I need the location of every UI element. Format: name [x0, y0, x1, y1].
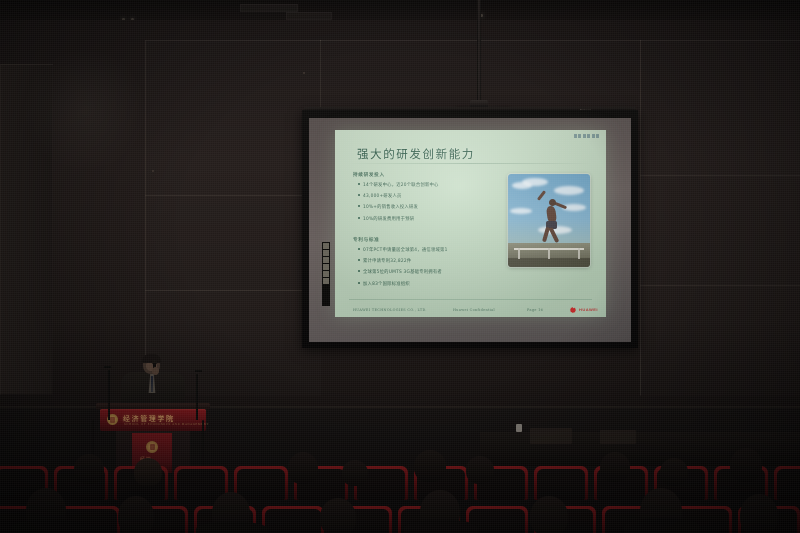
slide-bullet: 全球第5位的UMTS 3G基础专利拥有者	[358, 269, 448, 275]
wall-panel	[640, 40, 800, 176]
athlete-figure	[538, 190, 564, 252]
audience-head	[740, 494, 778, 533]
bullet-dot-icon	[358, 248, 360, 250]
audience-head	[600, 452, 630, 482]
athlete-arm	[537, 190, 546, 201]
wall-light-falloff	[20, 50, 150, 170]
microphone-stand	[196, 374, 198, 420]
cable	[202, 420, 204, 472]
wall-indicator-strip	[322, 242, 330, 306]
presenter-hand	[152, 367, 159, 375]
seat	[234, 466, 288, 500]
wall-panel	[145, 40, 321, 196]
slide-bullet: 43,000+研发人员	[358, 193, 439, 199]
table-object	[600, 430, 636, 444]
audience-head	[320, 498, 356, 533]
slide-title: 强大的研发创新能力	[357, 146, 475, 162]
ceiling-vent	[240, 4, 298, 12]
bullet-text: 10%+的销售收入投入研发	[363, 204, 418, 210]
slide-bullet: 14个研发中心，近20个联合创新中心	[358, 182, 439, 188]
huawei-flower-icon	[568, 305, 577, 314]
audience-shoulders	[196, 522, 268, 533]
microphone-boom	[195, 370, 202, 372]
bullet-dot-icon	[358, 270, 360, 272]
hurdle-leg	[518, 248, 520, 259]
wall-panel	[640, 175, 800, 286]
seat	[262, 506, 324, 533]
slide-footer-confidential: Huawei Confidential	[453, 308, 495, 312]
audience-head	[730, 448, 762, 482]
track-surface	[508, 258, 590, 267]
slide-bullet: 加入83个国际标准组织	[358, 281, 448, 287]
auditorium-presentation-scene: Screen 强大的研发创新能力 持续研发投入 14个研发中心，近20个联合创新…	[0, 0, 800, 533]
slide-bullet: 10%的研发费用用于预研	[358, 216, 439, 222]
audience-shoulders	[404, 520, 478, 533]
slide-header-mark-icon	[574, 134, 600, 138]
institution-emblem-icon	[146, 441, 158, 453]
bullet-text: 43,000+研发人员	[363, 193, 402, 199]
audience-shoulders	[10, 520, 84, 533]
audience-head	[134, 458, 162, 486]
microphone-boom	[104, 366, 111, 368]
audience-head	[466, 456, 494, 484]
wall-seam	[640, 40, 641, 395]
hurdle-leg	[578, 248, 580, 259]
athlete-leg	[549, 227, 560, 243]
wall-mark	[303, 72, 305, 74]
audience-head	[414, 450, 446, 482]
slide-footer-rule	[349, 299, 592, 300]
slide-page-number: Page 16	[527, 308, 543, 312]
audience-shoulders	[624, 518, 700, 533]
microphone-stand	[108, 370, 110, 420]
bullet-text: 07年PCT申请量居全球第4，通信领域第1	[363, 247, 448, 253]
bullet-dot-icon	[358, 217, 360, 219]
bullet-text: 14个研发中心，近20个联合创新中心	[363, 182, 439, 188]
table-object	[530, 428, 572, 444]
slide-title-rule	[349, 163, 592, 164]
audience-head	[342, 460, 368, 486]
cloud	[522, 178, 548, 186]
audience-head	[288, 452, 318, 484]
projected-slide: 强大的研发创新能力 持续研发投入 14个研发中心，近20个联合创新中心 43,0…	[335, 130, 606, 317]
wall-panel	[640, 285, 800, 396]
cloud	[510, 208, 532, 214]
bullet-text: 10%的研发费用用于预研	[363, 216, 414, 222]
hurdler-athlete-photo	[508, 174, 590, 267]
slide-section-heading: 专利与标准	[353, 237, 379, 243]
podium-panel-subtext: SCHOOL OF ECONOMICS AND MANAGEMENT	[124, 423, 209, 426]
wall-panel	[145, 195, 321, 291]
huawei-wordmark: HUAWEI	[579, 307, 598, 312]
bullet-dot-icon	[358, 282, 360, 284]
slide-section-heading: 持续研发投入	[353, 172, 385, 178]
paper-cup	[516, 424, 522, 432]
bullet-text: 全球第5位的UMTS 3G基础专利拥有者	[363, 269, 442, 275]
projector-mount-pole	[477, 0, 481, 104]
slide-bullet: 累计申请专利32,822件	[358, 258, 448, 264]
bullet-text: 加入83个国际标准组织	[363, 281, 410, 287]
bullet-text: 累计申请专利32,822件	[363, 258, 411, 264]
bullet-dot-icon	[358, 194, 360, 196]
seat	[534, 466, 588, 500]
wall-mark	[152, 170, 154, 172]
athlete-head	[549, 199, 556, 206]
audience-head	[660, 458, 688, 486]
audience-head	[118, 496, 154, 533]
slide-bullet: 07年PCT申请量居全球第4，通信领域第1	[358, 247, 448, 253]
slide-footer-company: HUAWEI TECHNOLOGIES CO., LTD.	[353, 308, 427, 312]
bullet-dot-icon	[358, 205, 360, 207]
seat	[774, 466, 800, 500]
slide-bullet-group: 07年PCT申请量居全球第4，通信领域第1 累计申请专利32,822件 全球第5…	[358, 247, 448, 292]
huawei-logo: HUAWEI	[568, 305, 598, 314]
ceiling-vent	[286, 12, 332, 20]
audience-head	[530, 496, 568, 533]
audience-head	[74, 454, 104, 484]
bullet-dot-icon	[358, 183, 360, 185]
slide-bullet: 10%+的销售收入投入研发	[358, 204, 439, 210]
slide-bullet-group: 14个研发中心，近20个联合创新中心 43,000+研发人员 10%+的销售收入…	[358, 182, 439, 227]
bullet-dot-icon	[358, 259, 360, 261]
